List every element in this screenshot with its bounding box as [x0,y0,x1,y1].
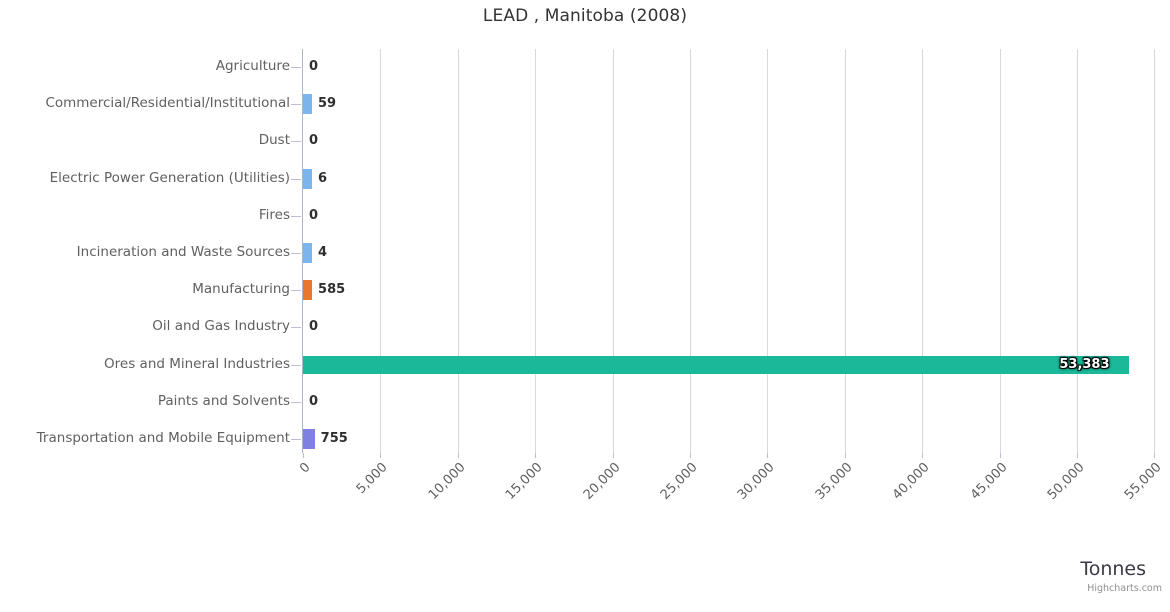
data-label: 0 [309,319,318,334]
gridline [1077,49,1078,453]
x-axis-tick [1154,453,1155,458]
gridline [613,49,614,453]
gridline [767,49,768,453]
x-axis-tick [1077,453,1078,458]
gridline [458,49,459,453]
data-label: 0 [309,59,318,74]
y-axis-tick [291,327,301,328]
x-axis-tick [458,453,459,458]
y-axis-tick [291,141,301,142]
y-axis-label: Oil and Gas Industry [152,318,290,334]
x-axis-label: 40,000 [781,460,933,612]
data-label: 6 [318,171,327,186]
x-axis-tick [613,453,614,458]
gridline [1000,49,1001,453]
y-axis-tick [291,216,301,217]
y-axis-tick [291,104,301,105]
x-axis-tick [380,453,381,458]
y-axis-tick [291,253,301,254]
gridline [690,49,691,453]
data-label: 59 [318,96,336,111]
y-axis-tick [291,365,301,366]
bar[interactable] [303,169,312,189]
x-axis-label: 15,000 [394,460,546,612]
chart-title: LEAD , Manitoba (2008) [0,6,1170,26]
data-label: 53,383 [1059,357,1109,372]
data-label: 585 [318,282,345,297]
data-label: 4 [318,245,327,260]
x-axis-label: 25,000 [549,460,701,612]
plot-area [303,49,1170,453]
x-axis-label: 50,000 [936,460,1088,612]
x-axis-tick [535,453,536,458]
y-axis-line [302,49,303,453]
y-axis-tick [291,402,301,403]
y-axis-label: Commercial/Residential/Institutional [45,95,290,111]
gridline [1154,49,1155,453]
x-axis-tick [303,453,304,458]
x-axis-tick [767,453,768,458]
y-axis-label: Ores and Mineral Industries [104,356,290,372]
x-axis-tick [845,453,846,458]
bar[interactable] [303,94,312,114]
data-label: 0 [309,133,318,148]
bar[interactable] [303,429,315,449]
data-label: 0 [309,394,318,409]
x-axis-label: 0 [162,460,314,612]
x-axis-label: 45,000 [859,460,1011,612]
bar-chart: LEAD , Manitoba (2008) AgricultureCommer… [0,0,1170,600]
bar[interactable] [303,243,312,263]
y-axis-label: Fires [259,207,290,223]
y-axis-tick [291,67,301,68]
bar[interactable] [303,280,312,300]
y-axis-tick [291,439,301,440]
x-axis-title: Tonnes [1080,558,1146,580]
y-axis-label: Dust [259,132,290,148]
gridline [922,49,923,453]
x-axis-label: 30,000 [626,460,778,612]
x-axis-label: 20,000 [472,460,624,612]
y-axis-label: Electric Power Generation (Utilities) [50,170,290,186]
gridline [380,49,381,453]
bar[interactable] [303,356,1129,374]
y-axis-tick [291,290,301,291]
y-axis-label: Manufacturing [192,281,290,297]
x-axis-tick [690,453,691,458]
gridline [845,49,846,453]
gridline [535,49,536,453]
x-axis-tick [1000,453,1001,458]
x-axis-tick [922,453,923,458]
y-axis-tick [291,179,301,180]
y-axis-label: Transportation and Mobile Equipment [37,430,290,446]
y-axis-label: Paints and Solvents [158,393,290,409]
x-axis-label: 35,000 [704,460,856,612]
data-label: 755 [321,431,348,446]
data-label: 0 [309,208,318,223]
x-axis-label: 10,000 [317,460,469,612]
y-axis-label: Incineration and Waste Sources [77,244,290,260]
highcharts-credits[interactable]: Highcharts.com [1087,583,1162,594]
y-axis-label: Agriculture [216,58,290,74]
x-axis-label: 5,000 [239,460,391,612]
plot-background [303,49,1170,453]
